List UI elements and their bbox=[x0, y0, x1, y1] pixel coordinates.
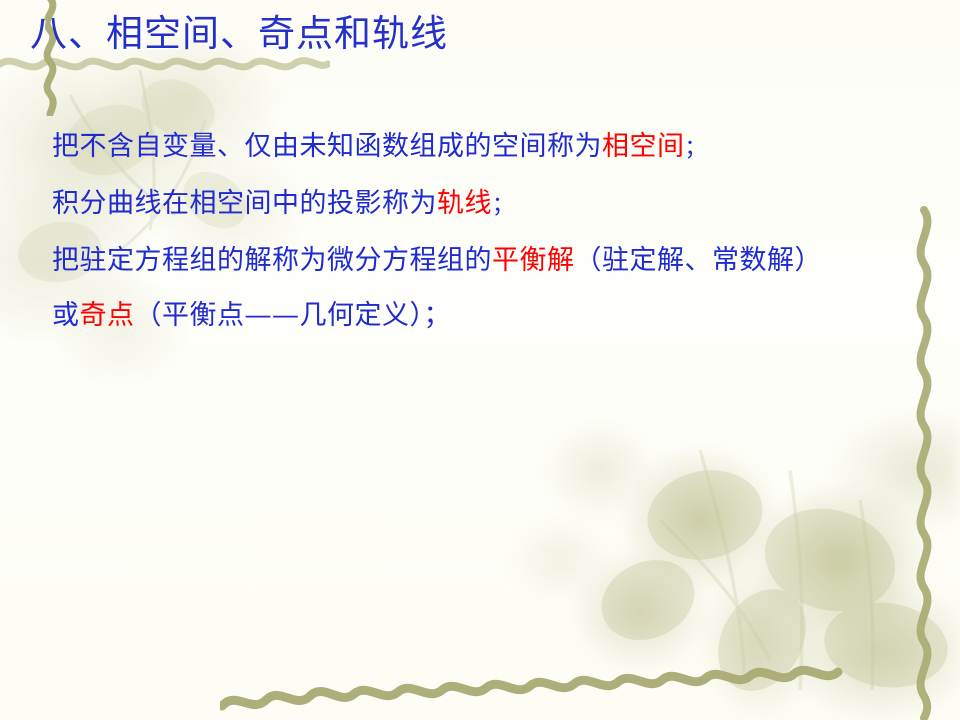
body-line-3-segment-3: （驻定解、常数解） bbox=[575, 245, 823, 276]
body-line-4-segment-1: 或 bbox=[52, 300, 80, 331]
body-line-1-segment-3: ； bbox=[685, 136, 708, 161]
body-line-1: 把不含自变量、仅由未知函数组成的空间称为相空间； bbox=[52, 119, 952, 176]
body-line-1-segment-1: 把不含自变量、仅由未知函数组成的空间称为 bbox=[52, 131, 602, 162]
body-line-1-highlight: 相空间 bbox=[602, 131, 685, 162]
body-line-2: 积分曲线在相空间中的投影称为轨线； bbox=[52, 176, 952, 233]
body-line-4: 或奇点（平衡点——几何定义）； bbox=[52, 288, 952, 343]
body-line-4-segment-3: （平衡点——几何定义）； bbox=[135, 300, 452, 331]
slide-canvas: 八、相空间、奇点和轨线 把不含自变量、仅由未知函数组成的空间称为相空间； 积分曲… bbox=[0, 0, 960, 720]
body-line-3-segment-1: 把驻定方程组的解称为微分方程组的 bbox=[52, 245, 492, 276]
floral-watermark-bottomright bbox=[0, 0, 960, 720]
body-line-3-highlight: 平衡解 bbox=[492, 245, 575, 276]
floral-watermark-topleft bbox=[0, 0, 960, 720]
page-title: 八、相空间、奇点和轨线 bbox=[30, 14, 448, 55]
floral-stems-decoration bbox=[0, 0, 960, 720]
body-line-2-segment-1: 积分曲线在相空间中的投影称为 bbox=[52, 188, 437, 219]
wavy-border-bottom-decoration bbox=[220, 660, 940, 720]
body-line-2-segment-3: ； bbox=[492, 193, 515, 218]
body-text-block: 把不含自变量、仅由未知函数组成的空间称为相空间； 积分曲线在相空间中的投影称为轨… bbox=[52, 119, 952, 343]
body-line-4-highlight: 奇点 bbox=[80, 300, 135, 331]
wavy-border-right-decoration bbox=[900, 0, 948, 720]
body-line-3: 把驻定方程组的解称为微分方程组的平衡解（驻定解、常数解） bbox=[52, 233, 952, 288]
body-line-2-highlight: 轨线 bbox=[437, 188, 492, 219]
